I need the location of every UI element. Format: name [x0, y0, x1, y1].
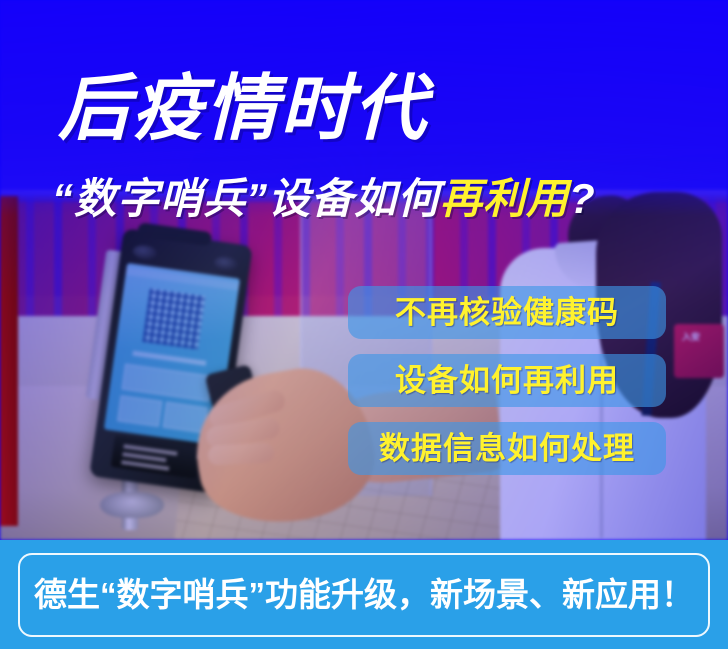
bottom-banner-frame: 德生“数字哨兵”功能升级，新场景、新应用！ [18, 553, 710, 637]
poster-bullet-list: 不再核验健康码 设备如何再利用 数据信息如何处理 [348, 286, 666, 475]
bullet-pill-2[interactable]: 设备如何再利用 [348, 354, 666, 407]
bullet-pill-3-label: 数据信息如何处理 [379, 432, 635, 465]
poster-subheading: “数字哨兵”设备如何再利用? [52, 174, 596, 224]
bullet-pill-3[interactable]: 数据信息如何处理 [348, 422, 666, 475]
bullet-pill-1-label: 不再核验健康码 [395, 296, 619, 329]
bottom-banner: 德生“数字哨兵”功能升级，新场景、新应用！ [0, 540, 728, 649]
poster-headline: 后疫情时代 [58, 72, 428, 146]
subheading-trail: ? [569, 175, 596, 222]
bullet-pill-2-label: 设备如何再利用 [395, 364, 619, 397]
subheading-highlight: 再利用 [440, 175, 569, 222]
bullet-pill-1[interactable]: 不再核验健康码 [348, 286, 666, 339]
subheading-lead: “数字哨兵”设备如何 [52, 175, 440, 222]
poster-root: 入安 后疫情时代 “数字哨兵”设备如何再利用? 不再核验健康码 设备如何再利用 … [0, 0, 728, 649]
bottom-banner-text: 德生“数字哨兵”功能升级，新场景、新应用！ [34, 577, 694, 613]
